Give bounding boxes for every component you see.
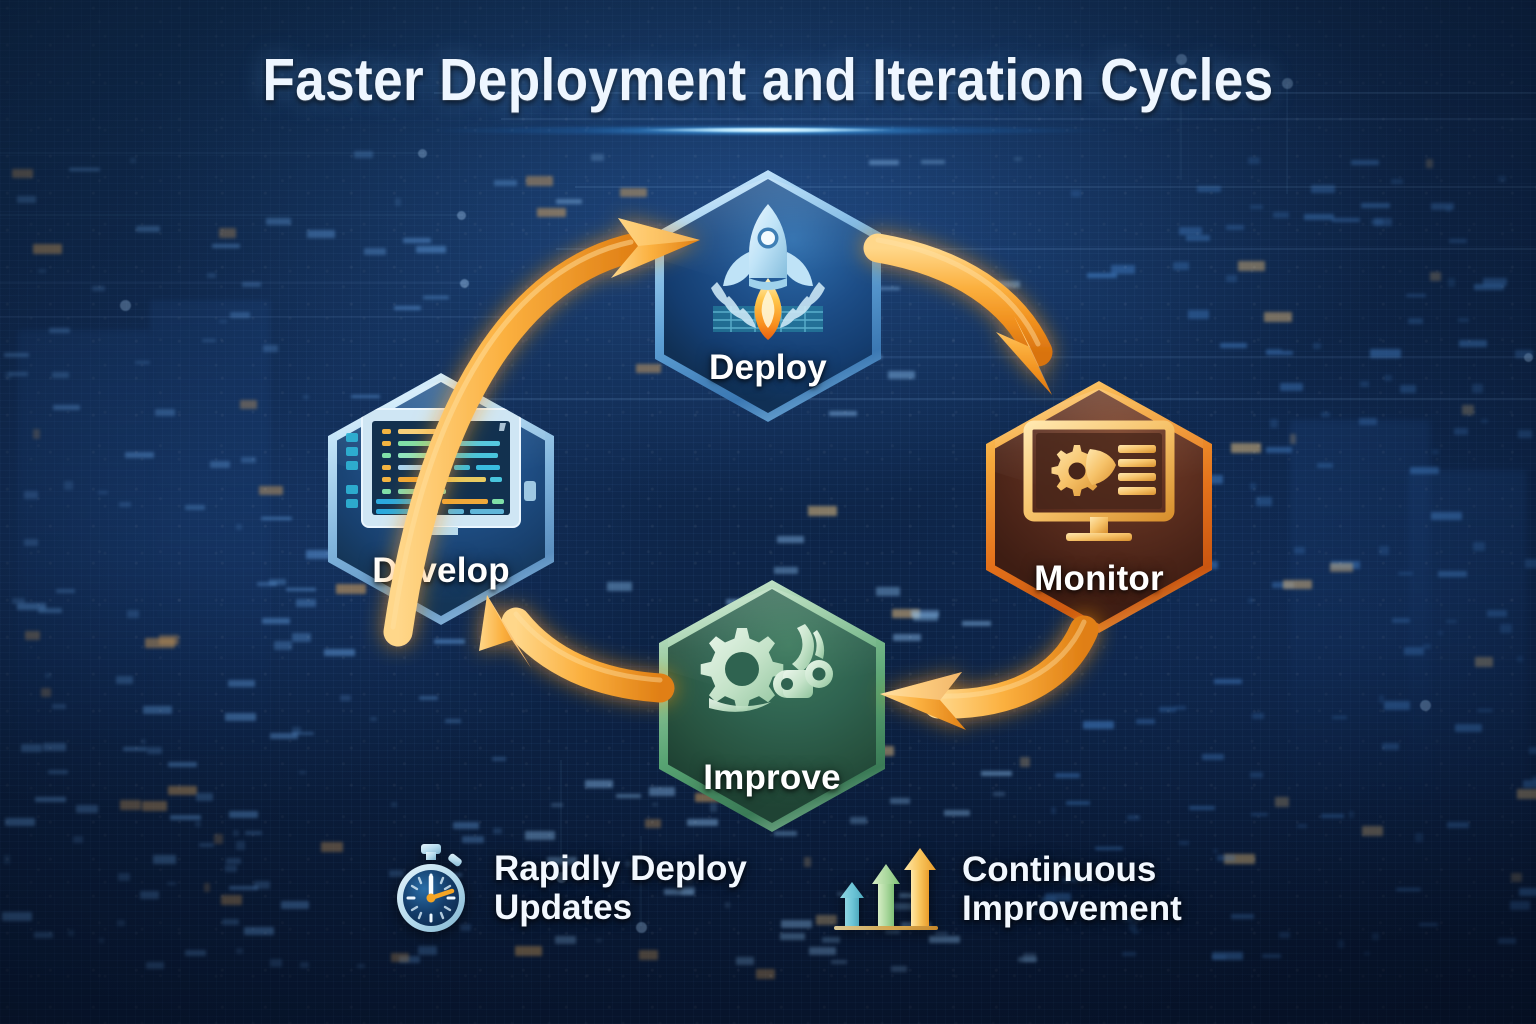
cycle-node-improve[interactable]: Improve [659, 580, 885, 832]
cycle-arrow-layer [0, 0, 1536, 1024]
background-data-blocks [0, 0, 1536, 1024]
feature-continuous-improvement: Continuous Improvement [832, 842, 1182, 936]
node-label: Develop [328, 551, 554, 591]
infographic-canvas: Faster Deployment and Iteration Cycles [0, 0, 1536, 1024]
monitor-screen-icon [986, 407, 1212, 557]
feature-label-line2: Updates [494, 888, 747, 927]
code-window-icon [328, 399, 554, 549]
arrow-deploy-to-monitor [878, 240, 1052, 395]
feature-rapid-deploy-updates: Rapidly Deploy Updates [388, 842, 747, 934]
feature-label-line1: Continuous [962, 850, 1182, 889]
background-server-racks [0, 0, 1536, 1024]
gear-wrench-icon [659, 606, 885, 756]
cycle-node-deploy[interactable]: Deploy [655, 170, 881, 422]
growth-arrows-icon [832, 842, 942, 936]
node-label: Deploy [655, 348, 881, 388]
title-glow-core [638, 128, 898, 132]
page-title: Faster Deployment and Iteration Cycles [77, 46, 1459, 114]
feature-label: Continuous Improvement [962, 850, 1182, 928]
feature-label-line1: Rapidly Deploy [494, 849, 747, 888]
cycle-node-monitor[interactable]: Monitor [986, 381, 1212, 633]
arrow-improve-to-develop [479, 595, 660, 688]
feature-label: Rapidly Deploy Updates [494, 849, 747, 927]
rocket-icon [655, 196, 881, 346]
background-vignette [0, 0, 1536, 1024]
stopwatch-icon [388, 842, 474, 934]
cycle-node-develop[interactable]: Develop [328, 373, 554, 625]
background-circuit-traces [0, 0, 1536, 1024]
node-label: Monitor [986, 559, 1212, 599]
background-noise-speckle [0, 0, 1536, 1024]
background-circuit-grid [0, 0, 1536, 1024]
arrow-monitor-to-improve [880, 622, 1084, 730]
node-label: Improve [659, 758, 885, 798]
feature-label-line2: Improvement [962, 889, 1182, 928]
